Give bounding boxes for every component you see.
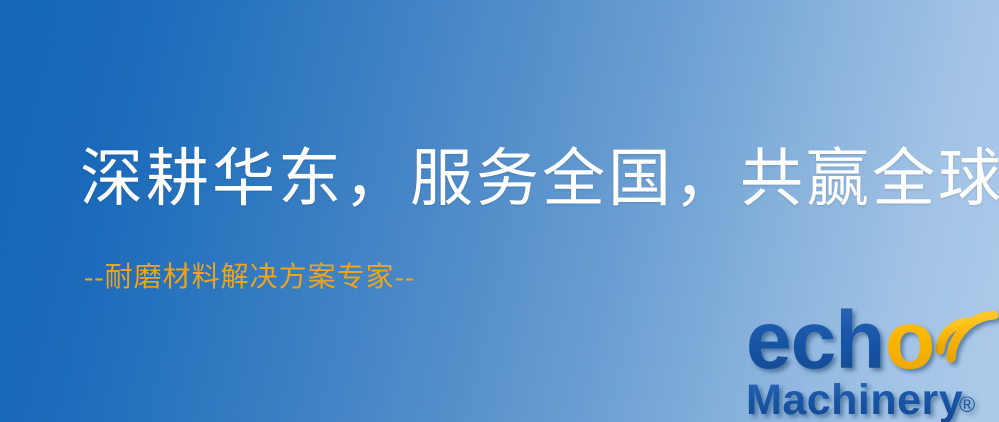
logo-tagline: Machinery ®	[746, 376, 975, 422]
logo-wordmark-o: o	[885, 295, 935, 386]
logo-wordmark-ech: ech	[746, 295, 884, 386]
echo-machinery-logo: ech o Machinery ®	[744, 292, 999, 422]
banner-headline: 深耕华东，服务全国，共赢全球	[80, 148, 950, 211]
signal-wave-icon	[940, 315, 994, 358]
svg-text:®: ®	[959, 392, 975, 417]
hero-banner: 深耕华东，服务全国，共赢全球 --耐磨材料解决方案专家--	[0, 0, 999, 422]
svg-text:o: o	[885, 295, 935, 386]
banner-subtitle: --耐磨材料解决方案专家--	[84, 264, 415, 292]
svg-text:Machinery: Machinery	[746, 376, 963, 422]
svg-text:ech: ech	[746, 295, 884, 386]
